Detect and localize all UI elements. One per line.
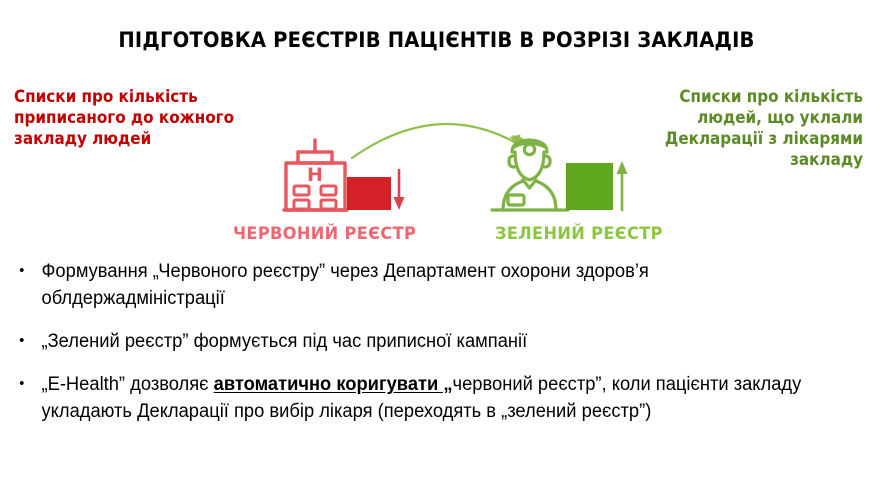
bullet-item-2: „Зелений реєстр” формується під час прип…: [0, 328, 842, 355]
hospital-h-letter: H: [307, 164, 323, 186]
bullet-item-1: Формування „Червоного реєстру” через Деп…: [0, 258, 842, 312]
green-registry-label: ЗЕЛЕНИЙ РЕЄСТР: [495, 224, 663, 244]
red-down-arrow-icon: [394, 170, 405, 210]
hospital-windows-icon: [294, 186, 336, 209]
bullet-item-3: „E-Health” дозволяє автоматично коригува…: [0, 371, 842, 425]
registry-flow-diagram: H: [0, 100, 873, 250]
green-up-arrow-icon: [617, 161, 628, 210]
text-run: „Зелений реєстр” формується під час прип…: [41, 331, 527, 352]
emphasized-text: автоматично коригувати „: [214, 374, 453, 395]
red-registry-bar: [347, 177, 391, 210]
bullet-list: Формування „Червоного реєстру” через Деп…: [0, 258, 873, 441]
text-run: Формування „Червоного реєстру” через Деп…: [41, 261, 648, 309]
text-run: „E-Health” дозволяє: [41, 374, 213, 395]
page-title: ПІДГОТОВКА РЕЄСТРІВ ПАЦІЄНТІВ В РОЗРІЗІ …: [31, 28, 843, 52]
flow-arrow-icon: [352, 124, 523, 158]
doctor-icon: [492, 140, 568, 210]
green-registry-bar: [566, 163, 613, 210]
red-registry-label: ЧЕРВОНИЙ РЕЄСТР: [233, 224, 416, 244]
